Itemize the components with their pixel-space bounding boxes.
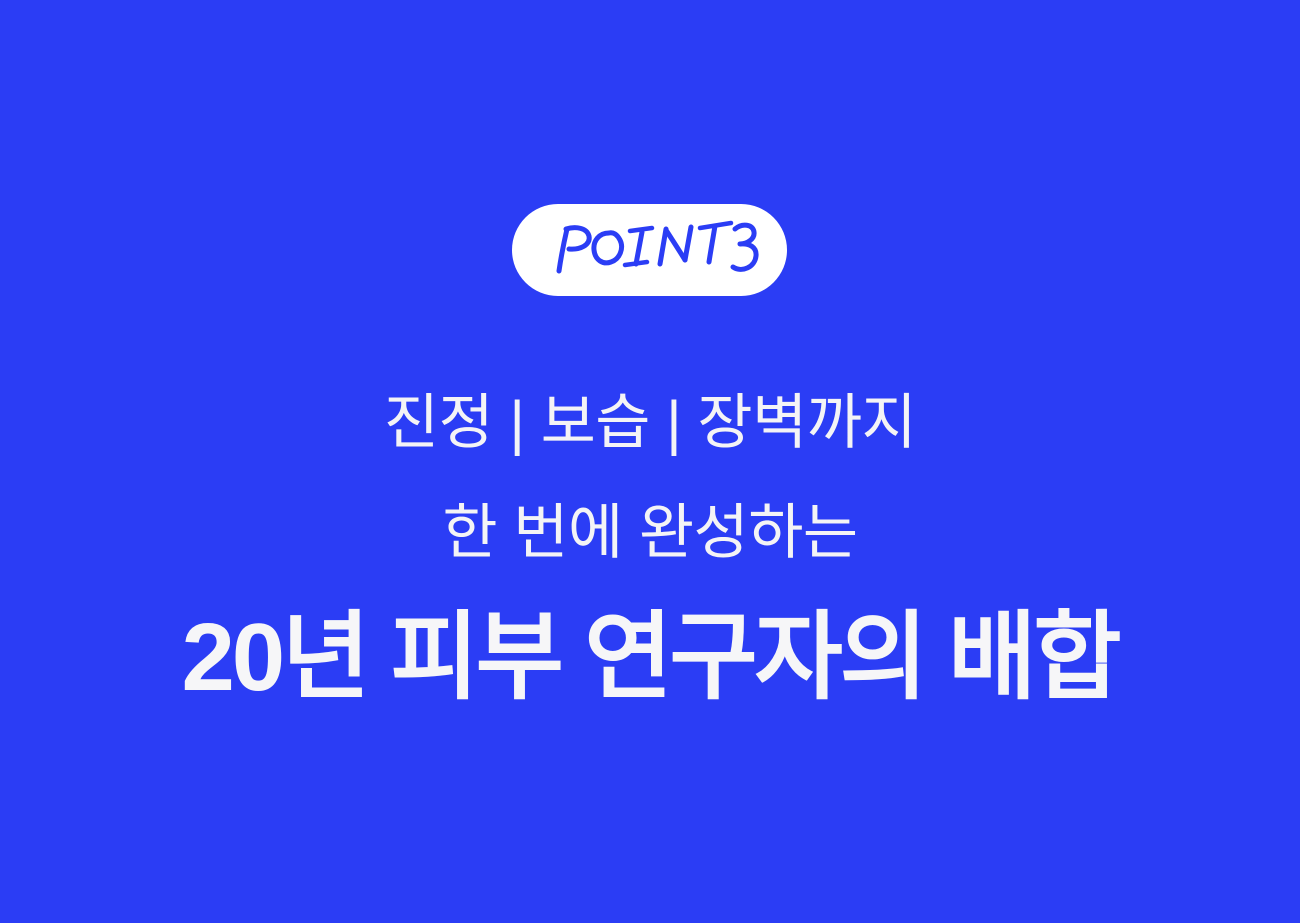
headline-line-2: 한 번에 완성하는 [0, 478, 1300, 588]
headline-line-1: 진정 | 보습 | 장벽까지 [0, 368, 1300, 478]
point-3-handwritten-icon [545, 219, 755, 281]
point-badge: POINT 3 [512, 204, 787, 296]
headline-line-3-emphasis: 20년 피부 연구자의 배합 [0, 600, 1300, 716]
headline-block: 진정 | 보습 | 장벽까지 한 번에 완성하는 20년 피부 연구자의 배합 [0, 368, 1300, 716]
promo-banner: POINT 3 [0, 0, 1300, 923]
